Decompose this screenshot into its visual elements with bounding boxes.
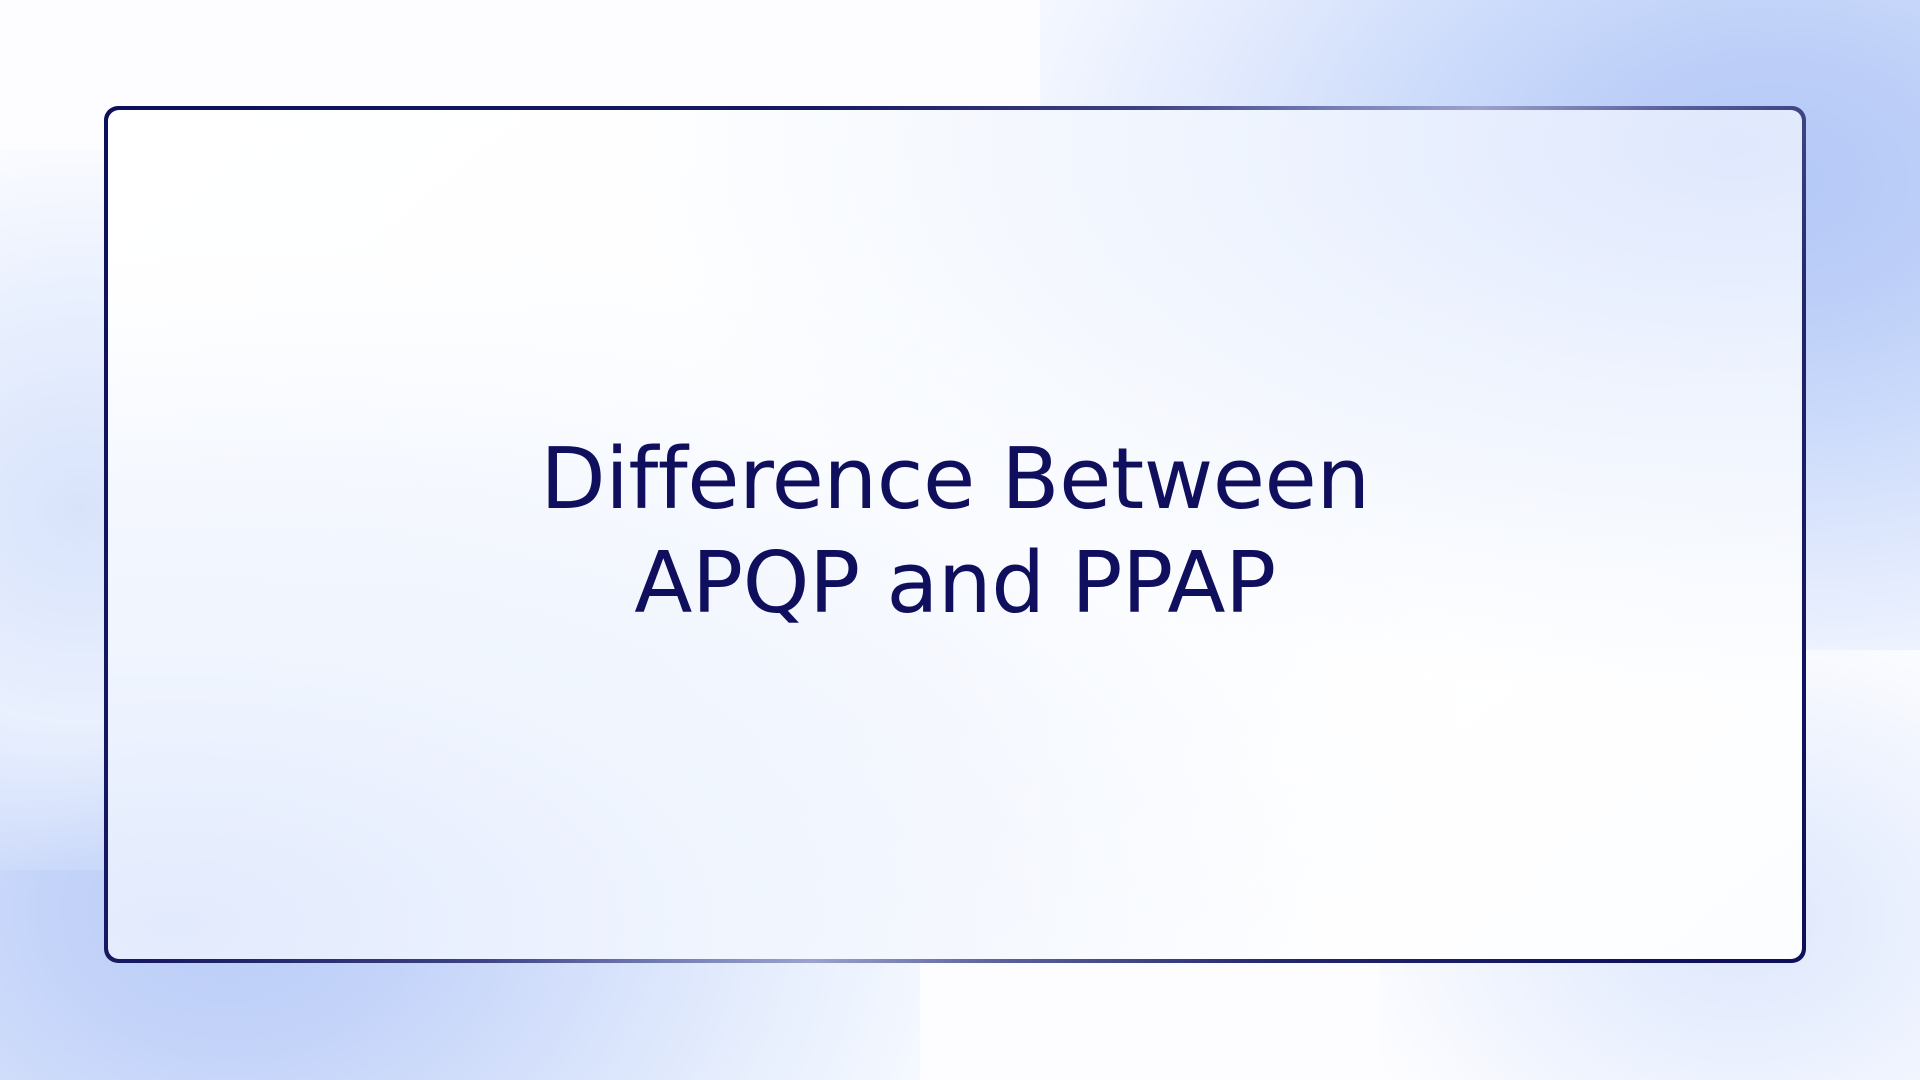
- title-line-1: Difference Between: [540, 428, 1369, 532]
- title-line-2: APQP and PPAP: [540, 532, 1369, 636]
- title-card-inner: Difference Between APQP and PPAP: [108, 110, 1802, 959]
- page-title: Difference Between APQP and PPAP: [540, 428, 1369, 635]
- slide-canvas: Difference Between APQP and PPAP: [0, 0, 1920, 1080]
- title-card-frame: Difference Between APQP and PPAP: [104, 106, 1806, 963]
